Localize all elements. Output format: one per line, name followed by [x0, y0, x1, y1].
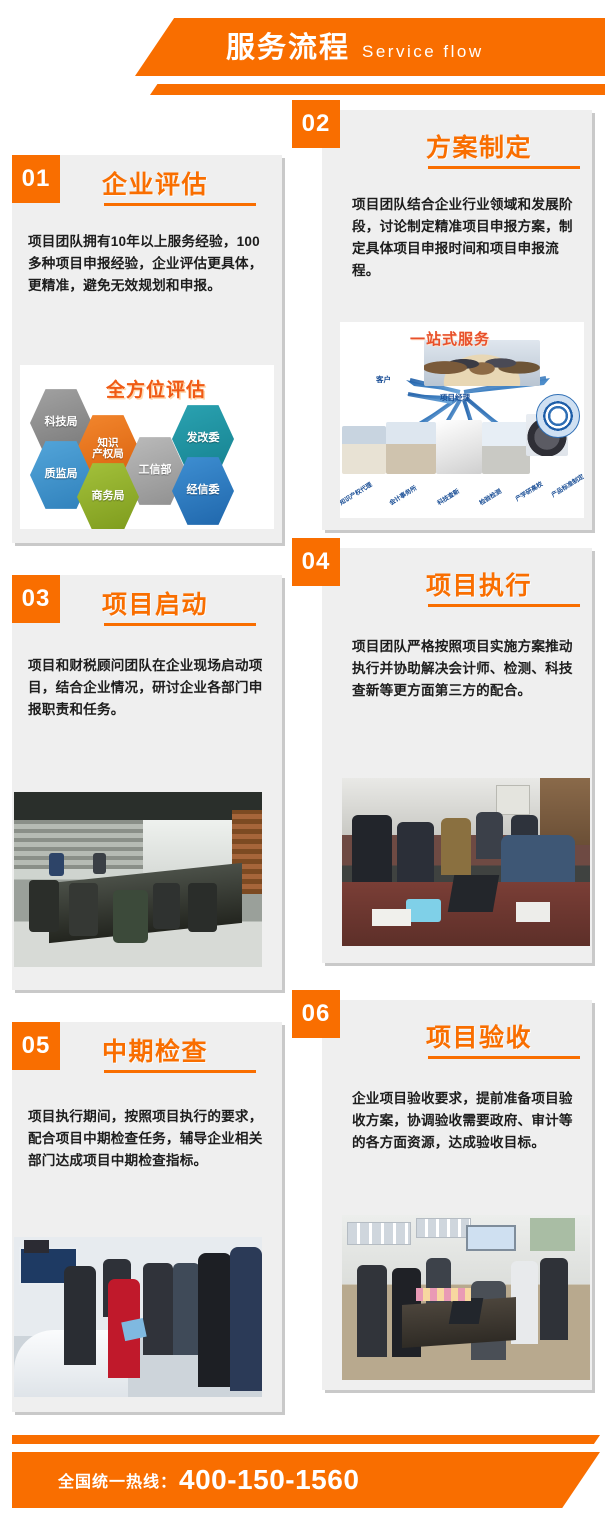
title-underline-06 — [428, 1056, 580, 1059]
photo-person — [93, 853, 105, 874]
step-number-badge-01: 01 — [12, 155, 60, 203]
header-stripe — [182, 84, 605, 95]
photo-laptop — [448, 875, 499, 912]
page-footer: 全国统一热线： 400-150-1560 — [0, 1425, 605, 1538]
footer-stripe — [12, 1435, 557, 1444]
photo-chair — [29, 880, 59, 933]
photo-person — [64, 1266, 96, 1365]
title-underline-01 — [104, 203, 256, 206]
step-title-05: 中期检查 — [102, 1032, 208, 1068]
hexagon-chart-title: 全方位评估 — [106, 375, 206, 402]
page-header: 服务流程 Service flow — [0, 0, 605, 110]
photo-flowers — [416, 1288, 471, 1301]
photo-ac-unit — [496, 785, 531, 815]
service-client-label: 客户 — [376, 374, 391, 385]
step-photo-03 — [14, 792, 262, 967]
photo-wall-texture — [14, 820, 143, 869]
step-body-03: 项目和财税顾问团队在企业现场启动项目，结合企业情况，研讨企业各部门申报职责和任务… — [28, 655, 266, 721]
one-stop-service-title: 一站式服务 — [410, 328, 490, 349]
step-card-05[interactable]: 05 中期检查 项目执行期间，按照项目执行的要求，配合项目中期检查任务，辅导企业… — [12, 1022, 282, 1412]
photo-chair — [69, 883, 99, 936]
service-center-label: 项目经理 — [440, 392, 470, 403]
service-node-photo-3 — [436, 420, 482, 474]
service-node-photo-4 — [482, 422, 530, 474]
step-title-06: 项目验收 — [426, 1018, 532, 1054]
photo-person — [230, 1247, 262, 1391]
photo-person — [198, 1253, 233, 1387]
step-photo-04 — [342, 778, 590, 946]
one-stop-service-diagram: 一站式服务 — [340, 322, 584, 518]
step-number-badge-06: 06 — [292, 990, 340, 1038]
photo-chair — [188, 883, 218, 932]
title-underline-05 — [104, 1070, 256, 1073]
photo-person — [113, 890, 148, 943]
hexagon-evaluation-chart: 全方位评估 科技局 知识 产权局 发改委 质监局 工信部 商务局 — [20, 365, 274, 529]
step-number-badge-05: 05 — [12, 1022, 60, 1070]
photo-chair — [153, 883, 180, 929]
step-card-01[interactable]: 01 企业评估 项目团队拥有10年以上服务经验，100多种项目申报经验，企业评估… — [12, 155, 282, 543]
photo-projector-screen — [466, 1225, 516, 1251]
step-card-04[interactable]: 04 项目执行 项目团队严格按照项目实施方案推动执行并协助解决会计师、检测、科技… — [322, 548, 592, 963]
title-underline-02 — [428, 166, 580, 169]
step-number-badge-02: 02 — [292, 100, 340, 148]
page-title: 服务流程 — [226, 26, 350, 70]
hex-node-label: 商务局 — [92, 491, 125, 503]
title-underline-04 — [428, 604, 580, 607]
title-underline-03 — [104, 623, 256, 626]
service-flow-poster: 服务流程 Service flow 01 企业评估 项目团队拥有10年以上服务经… — [0, 0, 605, 1538]
photo-person — [357, 1265, 387, 1357]
step-title-03: 项目启动 — [102, 585, 208, 621]
step-body-05: 项目执行期间，按照项目执行的要求，配合项目中期检查任务，辅导企业相关部门达成项目… — [28, 1106, 266, 1172]
hex-node-label: 工信部 — [139, 465, 172, 477]
step-body-06: 企业项目验收要求，提前准备项目验收方案，协调验收需要政府、审计等的各方面资源，达… — [352, 1088, 576, 1154]
hex-node-label: 质监局 — [45, 469, 78, 481]
hex-node-label: 发改委 — [187, 433, 220, 445]
header-title-group: 服务流程 Service flow — [226, 26, 484, 70]
step-title-02: 方案制定 — [426, 128, 532, 164]
hex-node-label: 经信委 — [187, 485, 220, 497]
photo-person — [540, 1258, 567, 1341]
photo-green-panel — [530, 1218, 575, 1251]
step-number-badge-04: 04 — [292, 538, 340, 586]
photo-papers — [372, 909, 412, 926]
page-subtitle: Service flow — [362, 30, 484, 74]
photo-certificate-frames — [416, 1218, 471, 1238]
photo-equipment — [406, 899, 441, 923]
photo-person — [441, 818, 471, 875]
step-title-01: 企业评估 — [102, 165, 208, 201]
photo-monitor — [24, 1240, 49, 1253]
step-body-02: 项目团队结合企业行业领域和发展阶段，讨论制定精准项目申报方案，制定具体项目申报时… — [352, 194, 576, 282]
hotline-label: 全国统一热线： — [58, 1468, 177, 1492]
hex-node-label: 知识 产权局 — [92, 438, 124, 460]
footer-stripe-diagonal — [494, 1435, 600, 1444]
service-node-photo-2 — [386, 422, 436, 474]
photo-certificate-frames — [347, 1222, 411, 1245]
step-card-02[interactable]: 02 方案制定 项目团队结合企业行业领域和发展阶段，讨论制定精准项目申报方案，制… — [322, 110, 592, 530]
photo-papers — [516, 902, 551, 922]
photo-person — [143, 1263, 173, 1356]
service-node-photo-1 — [342, 426, 386, 474]
step-card-03[interactable]: 03 项目启动 项目和财税顾问团队在企业现场启动项目，结合企业情况，研讨企业各部… — [12, 575, 282, 990]
step-number-badge-03: 03 — [12, 575, 60, 623]
hotline-group: 全国统一热线： 400-150-1560 — [58, 1452, 359, 1508]
hotline-number[interactable]: 400-150-1560 — [179, 1464, 359, 1496]
photo-person — [476, 812, 503, 859]
photo-laptop — [449, 1298, 483, 1324]
step-card-06[interactable]: 06 项目验收 企业项目验收要求，提前准备项目验收方案，协调验收需要政府、审计等… — [322, 1000, 592, 1390]
step-title-04: 项目执行 — [426, 566, 532, 602]
iso-seal-icon — [536, 394, 580, 438]
step-photo-05 — [14, 1237, 262, 1397]
photo-person — [49, 853, 64, 876]
step-body-04: 项目团队严格按照项目实施方案推动执行并协助解决会计师、检测、科技查新等更方面第三… — [352, 636, 576, 702]
photo-person — [173, 1263, 200, 1356]
step-photo-06 — [342, 1215, 590, 1380]
step-body-01: 项目团队拥有10年以上服务经验，100多种项目申报经验，企业评估更具体，更精准，… — [28, 231, 266, 297]
hex-node-label: 科技局 — [45, 417, 78, 429]
